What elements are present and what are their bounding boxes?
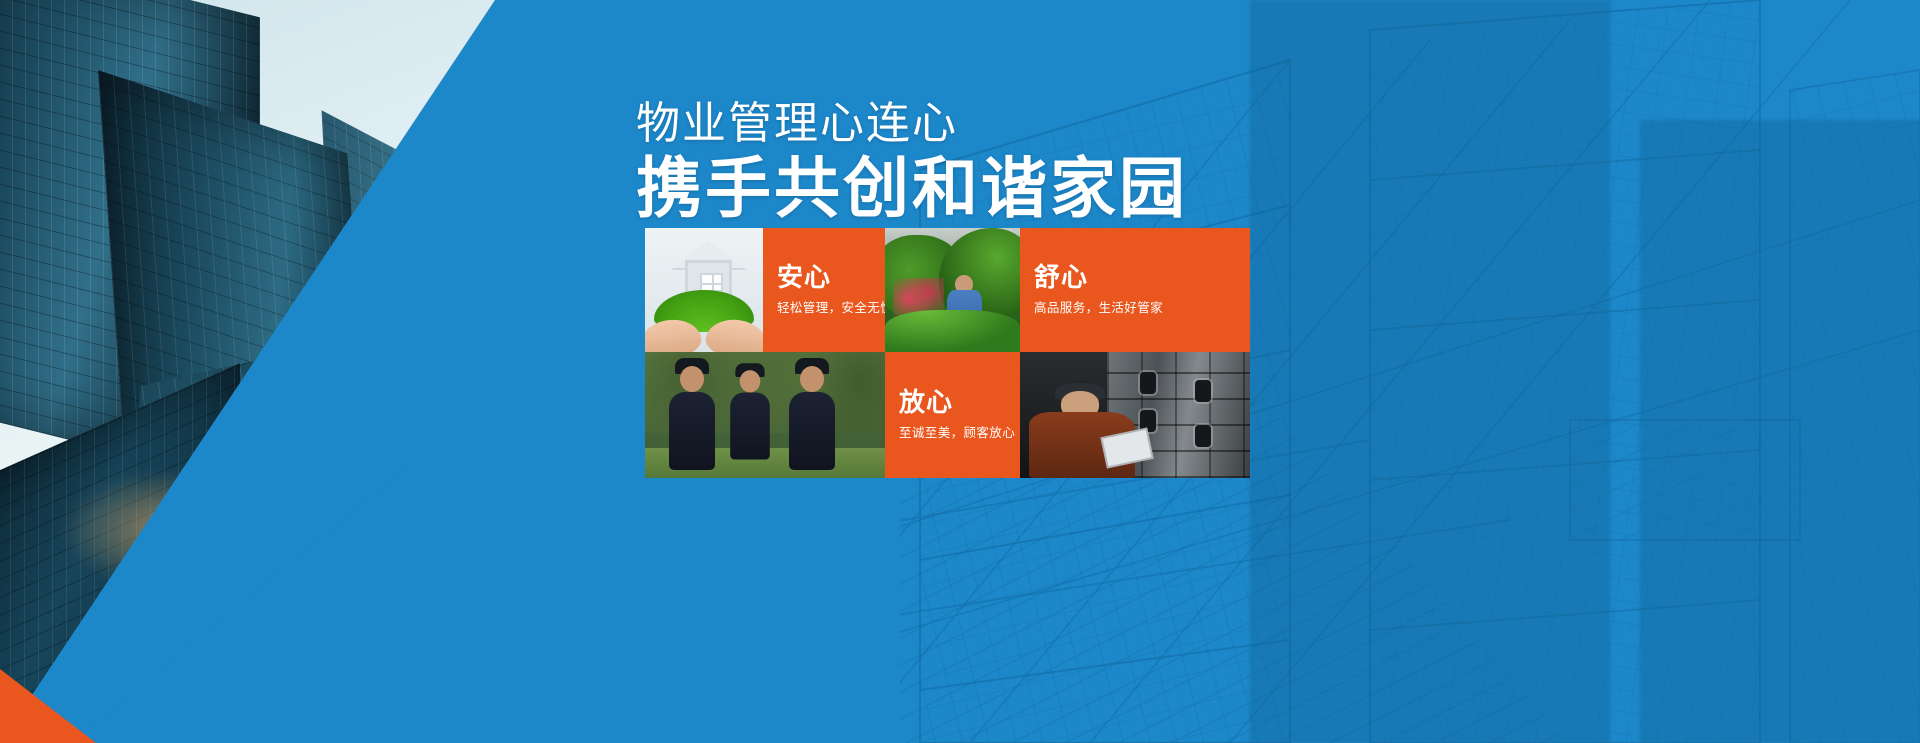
hero-banner: 物业管理心连心 携手共创和谐家园 安心 轻松管理，安全无忧	[0, 0, 1920, 743]
feature-title-anxin: 安心	[777, 263, 871, 292]
guard-figure	[730, 393, 770, 460]
guard-head-shape	[800, 366, 824, 392]
electrician-figure	[1029, 372, 1135, 478]
feature-caption-anxin: 安心 轻松管理，安全无忧	[763, 228, 885, 352]
feature-grid: 安心 轻松管理，安全无忧 舒心 高品服务，生活好管家	[645, 228, 1250, 478]
gardener-image	[885, 228, 1020, 352]
photo-garden	[885, 228, 1020, 352]
photo-electrician	[1020, 352, 1250, 478]
panel-knob	[1195, 425, 1211, 447]
electrician-image	[1020, 352, 1250, 478]
guard-body-shape	[730, 393, 770, 460]
feature-caption-fangxin: 放心 至诚至美，顾客放心	[885, 352, 1020, 478]
headline-main: 携手共创和谐家园	[636, 152, 1536, 226]
headline-group: 物业管理心连心 携手共创和谐家园	[636, 98, 1536, 226]
panel-knob	[1195, 380, 1211, 402]
guard-head-shape	[739, 371, 760, 393]
guard-body-shape	[669, 392, 715, 470]
feature-desc-fangxin: 至诚至美，顾客放心	[899, 426, 1006, 442]
feature-desc-shuxin: 高品服务，生活好管家	[1034, 301, 1236, 317]
panel-knob	[1140, 372, 1156, 394]
panel-knob	[1140, 410, 1156, 432]
headline-subtitle: 物业管理心连心	[636, 98, 1536, 150]
feature-caption-shuxin: 舒心 高品服务，生活好管家	[1020, 228, 1250, 352]
security-guards-image	[645, 352, 885, 478]
photo-house	[645, 228, 763, 352]
guard-body-shape	[789, 392, 835, 470]
guard-figure	[789, 392, 835, 470]
feature-title-shuxin: 舒心	[1034, 263, 1236, 292]
hands-holding-grass-house-image	[645, 228, 763, 352]
hedge-shape	[885, 310, 1020, 352]
guard-figure	[669, 392, 715, 470]
feature-title-fangxin: 放心	[899, 388, 1006, 417]
feature-desc-anxin: 轻松管理，安全无忧	[777, 301, 871, 317]
guard-head-shape	[680, 366, 704, 392]
photo-guards	[645, 352, 885, 478]
blue-tint-band-b	[1640, 120, 1920, 743]
